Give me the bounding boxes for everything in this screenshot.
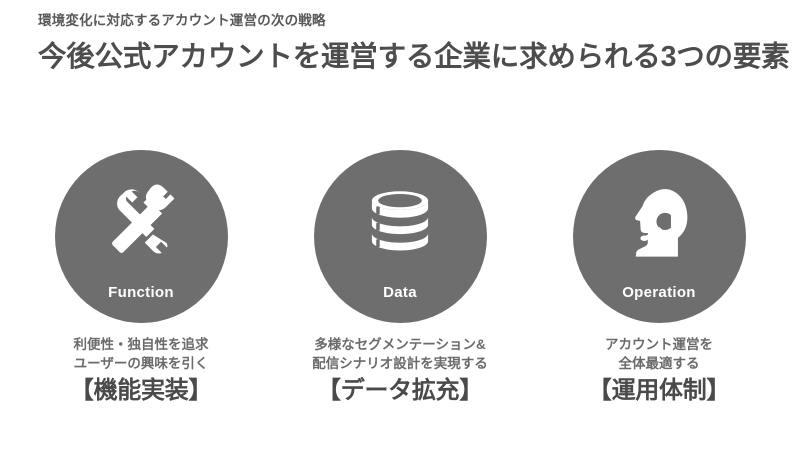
- caption-line-1: 利便性・独自性を追求: [12, 335, 271, 354]
- page-header: 環境変化に対応するアカウント運営の次の戦略 今後公式アカウントを運営する企業に求…: [38, 12, 768, 74]
- caption-key: 【データ拡充】: [271, 376, 530, 406]
- caption-line-2: 全体最適する: [530, 354, 789, 373]
- caption-line-1: アカウント運営を: [530, 335, 789, 354]
- database-icon: [354, 178, 446, 270]
- caption-key: 【機能実装】: [12, 376, 271, 406]
- caption-operation: アカウント運営を 全体最適する 【運用体制】: [530, 335, 789, 406]
- circle-label-operation: Operation: [573, 284, 746, 302]
- circle-badge-operation: Operation: [573, 150, 746, 323]
- circle-badge-data: Data: [314, 150, 487, 323]
- eyebrow-text: 環境変化に対応するアカウント運営の次の戦略: [38, 12, 768, 30]
- headset-operator-icon: [613, 178, 705, 270]
- circle-badge-function: Function: [55, 150, 228, 323]
- circle-label-function: Function: [55, 284, 228, 302]
- wrench-hammer-icon: [95, 178, 187, 270]
- caption-line-2: 配信シナリオ設計を実現する: [271, 354, 530, 373]
- caption-data: 多様なセグメンテーション& 配信シナリオ設計を実現する 【データ拡充】: [271, 335, 530, 406]
- element-column-operation: Operation アカウント運営を 全体最適する 【運用体制】: [530, 150, 789, 406]
- caption-line-1: 多様なセグメンテーション&: [271, 335, 530, 354]
- caption-line-2: ユーザーの興味を引く: [12, 354, 271, 373]
- element-column-function: Function 利便性・独自性を追求 ユーザーの興味を引く 【機能実装】: [12, 150, 271, 406]
- circle-label-data: Data: [314, 284, 487, 302]
- page-title: 今後公式アカウントを運営する企業に求められる3つの要素: [38, 40, 768, 74]
- elements-row: Function 利便性・独自性を追求 ユーザーの興味を引く 【機能実装】: [0, 150, 800, 406]
- caption-function: 利便性・独自性を追求 ユーザーの興味を引く 【機能実装】: [12, 335, 271, 406]
- element-column-data: Data 多様なセグメンテーション& 配信シナリオ設計を実現する 【データ拡充】: [271, 150, 530, 406]
- caption-key: 【運用体制】: [530, 376, 789, 406]
